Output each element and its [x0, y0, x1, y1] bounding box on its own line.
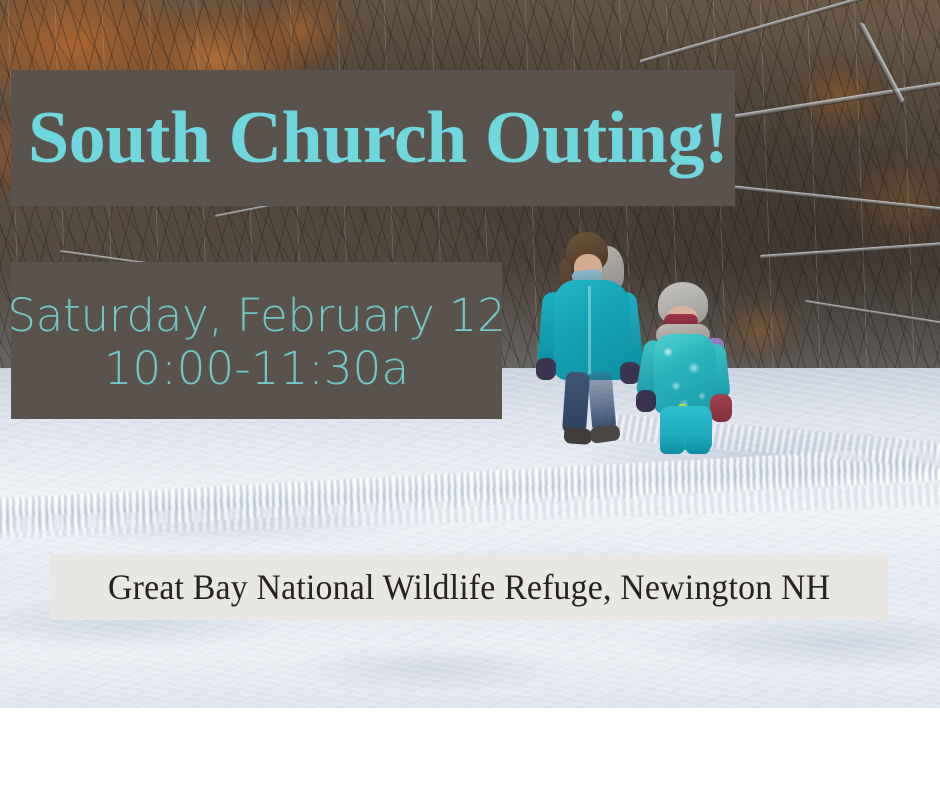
child-figure	[640, 282, 744, 458]
event-time: 10:00-11:30a	[104, 343, 410, 396]
child-right-mitten	[710, 394, 732, 422]
adult-teal-coat	[554, 280, 630, 380]
adult-right-boot	[589, 424, 621, 444]
location-banner: Great Bay National Wildlife Refuge, Newi…	[50, 554, 888, 620]
child-left-leg	[660, 432, 684, 454]
adult-right-leg	[587, 371, 616, 433]
bottom-white-band	[0, 708, 940, 788]
event-date: Saturday, February 12	[7, 290, 505, 343]
event-location: Great Bay National Wildlife Refuge, Newi…	[108, 566, 830, 608]
flyer-poster: South Church Outing! Saturday, February …	[0, 0, 940, 788]
child-left-mitten	[636, 390, 656, 412]
adult-left-boot	[563, 427, 592, 445]
adult-figure	[534, 232, 654, 452]
adult-left-glove	[536, 358, 556, 380]
schedule-banner: Saturday, February 12 10:00-11:30a	[11, 262, 502, 419]
child-right-leg	[686, 432, 710, 454]
page-title: South Church Outing!	[11, 101, 728, 175]
adult-left-leg	[562, 371, 590, 435]
child-patterned-coat	[654, 334, 716, 414]
title-banner: South Church Outing!	[11, 70, 735, 206]
